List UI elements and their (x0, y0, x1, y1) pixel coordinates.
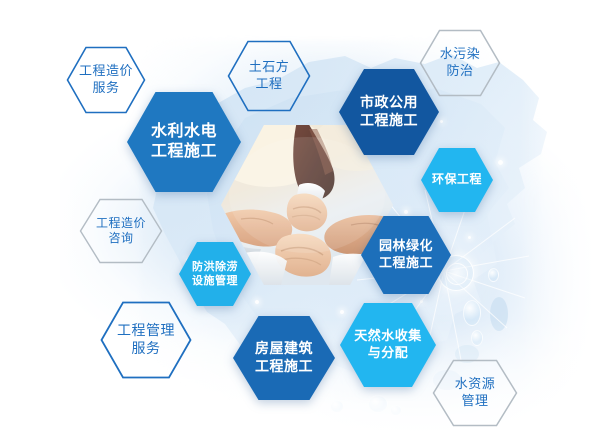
decorative-bubble (330, 400, 344, 413)
hex-shuiziyuan-guanli[interactable]: 水资源 管理 (432, 359, 518, 427)
hex-tianranshui-shouji[interactable]: 天然水收集 与分配 (340, 303, 436, 387)
hex-shizheng-gongyong-wrap: 市政公用 工程施工 (339, 69, 439, 155)
hex-fangwu-jianzhu[interactable]: 房屋建筑 工程施工 (233, 316, 335, 400)
decorative-bubble (463, 300, 481, 326)
hex-label-line1: 环保工程 (432, 172, 482, 187)
hex-label-line2: 工程施工 (379, 255, 433, 272)
hex-label-line2: 工程 (255, 76, 282, 93)
hex-label-line1: 工程管理 (117, 322, 175, 340)
hex-label-line1: 水资源 (455, 376, 496, 393)
sparkle-dot (440, 120, 443, 123)
hex-label-line1: 水污染 (440, 46, 481, 63)
fade-right (520, 0, 600, 439)
sparkle-dot (255, 300, 259, 304)
hex-gongcheng-zaojia-zixun[interactable]: 工程造价 咨询 (79, 198, 163, 264)
hex-label-line2: 工程施工 (360, 112, 418, 130)
hex-huanbao-gongcheng-wrap: 环保工程 (421, 148, 493, 212)
decorative-bubble (368, 395, 388, 413)
sparkle-dot (468, 236, 471, 239)
hex-label-line2: 工程施工 (151, 142, 217, 162)
hex-fanghong-chulao-wrap: 防洪除涝 设施管理 (179, 242, 251, 306)
hex-label-line1: 工程造价 (96, 216, 146, 231)
hex-label-line2: 咨询 (108, 231, 133, 246)
hex-label-line1: 工程造价 (79, 63, 133, 80)
sparkle-dot (404, 210, 408, 214)
hex-label-line1: 水利水电 (151, 122, 217, 142)
hex-label-line1: 防洪除涝 (192, 260, 238, 274)
hex-label-line2: 防治 (446, 63, 473, 80)
hex-fanghong-chulao[interactable]: 防洪除涝 设施管理 (179, 242, 251, 306)
hex-tianranshui-shouji-wrap: 天然水收集 与分配 (340, 303, 436, 387)
hex-huanbao-gongcheng[interactable]: 环保工程 (421, 148, 493, 212)
sparkle-dot (498, 160, 503, 165)
decorative-bubble (390, 405, 402, 416)
hex-yuanlin-lvhua-wrap: 园林绿化 工程施工 (361, 216, 451, 294)
hex-label-line2: 工程施工 (255, 358, 313, 376)
hex-yuanlin-lvhua[interactable]: 园林绿化 工程施工 (361, 216, 451, 294)
hex-shuili-shuidian-wrap: 水利水电 工程施工 (127, 92, 241, 192)
decorative-bubble (471, 330, 483, 346)
infographic-canvas: 工程造价 服务 土石方 工程 水污染 防治 水利水电 工程施工 市政公用 工程施… (0, 0, 600, 439)
hex-label-line2: 与分配 (368, 345, 409, 362)
hex-label-line1: 土石方 (249, 59, 290, 76)
hex-shizheng-gongyong[interactable]: 市政公用 工程施工 (339, 69, 439, 155)
hex-label-line2: 服务 (92, 80, 119, 97)
hex-label-line1: 天然水收集 (354, 328, 422, 345)
hex-label-line1: 市政公用 (360, 94, 418, 112)
hex-label-line2: 服务 (132, 340, 161, 358)
hex-gongcheng-guanli-fuwu[interactable]: 工程管理 服务 (100, 301, 192, 379)
hex-label-line1: 园林绿化 (379, 238, 433, 255)
hex-fangwu-jianzhu-wrap: 房屋建筑 工程施工 (233, 316, 335, 400)
hex-shuili-shuidian[interactable]: 水利水电 工程施工 (127, 92, 241, 192)
hex-label-line2: 设施管理 (192, 274, 238, 288)
hex-label-line1: 房屋建筑 (255, 340, 313, 358)
hex-label-line2: 管理 (461, 393, 488, 410)
decorative-bubble (488, 268, 499, 282)
